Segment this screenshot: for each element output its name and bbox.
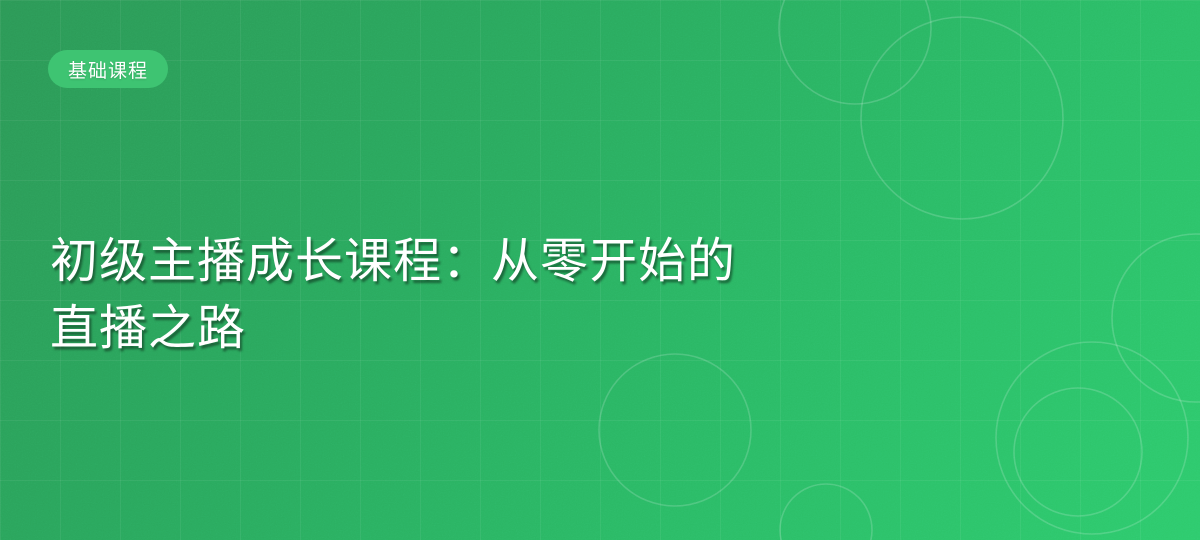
decorative-circle-4 (780, 484, 872, 540)
decorative-circle-5 (996, 342, 1188, 534)
decorative-circle-2 (861, 17, 1063, 219)
decorative-circle-7 (1112, 234, 1200, 402)
course-title-line-2: 直播之路 (50, 295, 850, 362)
course-title-line-1: 初级主播成长课程：从零开始的 (50, 228, 850, 295)
course-category-badge[interactable]: 基础课程 (48, 50, 168, 88)
decorative-circle-3 (599, 354, 751, 506)
decorative-circle-6 (1014, 388, 1142, 516)
course-title: 初级主播成长课程：从零开始的 直播之路 (50, 228, 850, 362)
decorative-circle-1 (779, 0, 931, 104)
course-cover-banner: 基础课程 初级主播成长课程：从零开始的 直播之路 (0, 0, 1200, 540)
